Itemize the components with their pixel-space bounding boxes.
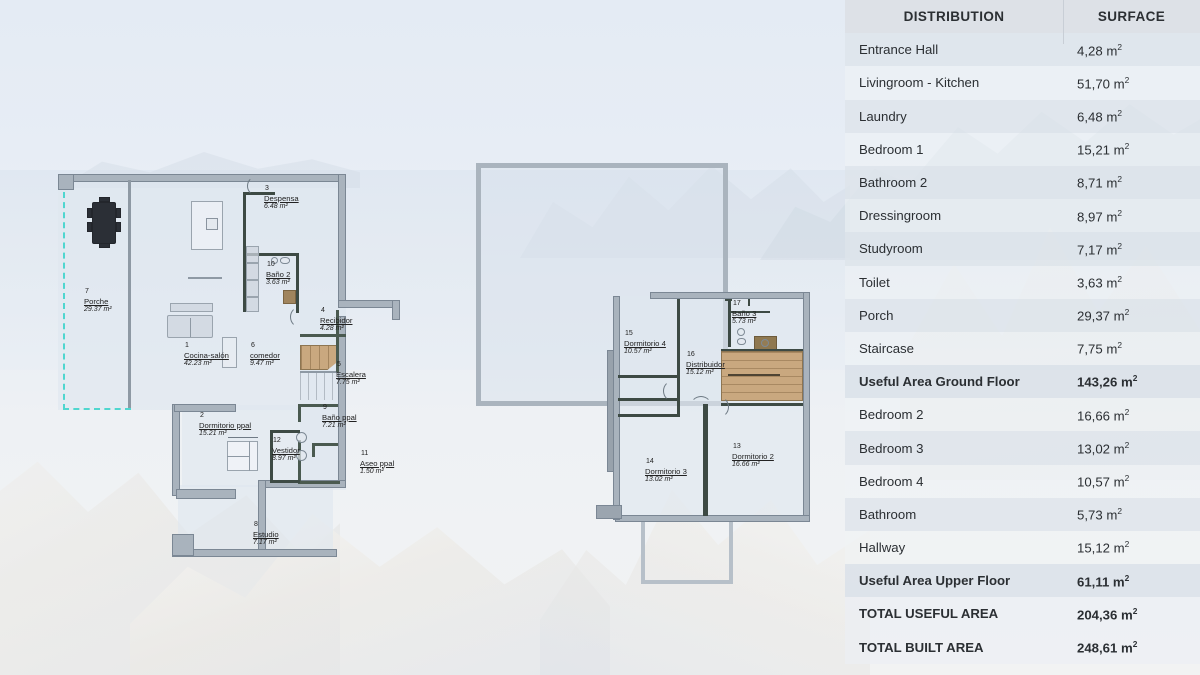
uf-label-distribuidor: 16 Distribuidor 15.12 m² xyxy=(686,351,725,377)
uf-wall-bath3-left xyxy=(728,299,731,347)
uf-label-bano3-num: 17 xyxy=(732,300,756,309)
uf-staircase-wall-bottom xyxy=(721,403,803,406)
uf-label-dorm4-area: 10.57 m² xyxy=(624,348,666,357)
gf-terrace-dashed-bottom xyxy=(63,408,131,410)
table-cell-distribution: Studyroom xyxy=(845,232,1063,265)
gf-pantry-shelf-4 xyxy=(246,297,259,312)
uf-label-dorm3-area: 13.02 m² xyxy=(645,476,687,485)
surface-table-head: DISTRIBUTION SURFACE xyxy=(845,0,1200,33)
gf-label-dormppal-name: Dormitorio ppal xyxy=(199,421,251,430)
gf-label-bano2-area: 3.63 m² xyxy=(266,279,290,288)
uf-label-bano3-name: Baño 3 xyxy=(732,309,756,318)
table-cell-distribution: Bedroom 3 xyxy=(845,431,1063,464)
uf-label-dorm4-num: 15 xyxy=(624,330,666,339)
surface-value: 15,12 m xyxy=(1077,541,1125,556)
table-cell-surface: 6,48 m2 xyxy=(1063,100,1200,133)
table-cell-surface: 61,11 m2 xyxy=(1063,564,1200,597)
gf-porch-chair-left-1 xyxy=(87,208,92,218)
table-cell-distribution: Useful Area Upper Floor xyxy=(845,564,1063,597)
gf-label-recibidor-num: 4 xyxy=(320,307,352,316)
surface-unit-exponent: 2 xyxy=(1125,539,1130,549)
table-cell-surface: 7,75 m2 xyxy=(1063,332,1200,365)
table-cell-surface: 204,36 m2 xyxy=(1063,597,1200,630)
gf-pantry-shelf-1 xyxy=(246,246,259,263)
uf-label-bano3-area: 5.73 m² xyxy=(732,318,756,327)
gf-label-cocina-area: 42.23 m² xyxy=(184,360,229,369)
table-cell-distribution: Entrance Hall xyxy=(845,33,1063,66)
gf-label-estudio-name: Estudio xyxy=(253,530,279,539)
table-row: Dressingroom8,97 m2 xyxy=(845,199,1200,232)
surface-unit-exponent: 2 xyxy=(1117,174,1122,184)
table-cell-surface: 8,97 m2 xyxy=(1063,199,1200,232)
gf-label-aseo-name: Aseo ppal xyxy=(360,459,394,468)
surface-value: 248,61 m xyxy=(1077,640,1133,655)
uf-wall-left-notch xyxy=(607,350,614,472)
surface-table-panel: DISTRIBUTION SURFACE Entrance Hall4,28 m… xyxy=(845,0,1200,675)
upper-floor-plan: 15 Dormitorio 4 10.57 m² 16 Distribuidor… xyxy=(460,0,845,675)
gf-vestidor-wall-top xyxy=(270,430,300,433)
surface-value: 29,37 m xyxy=(1077,308,1125,323)
surface-unit-exponent: 2 xyxy=(1117,340,1122,350)
table-row: Studyroom7,17 m2 xyxy=(845,232,1200,265)
surface-unit-exponent: 2 xyxy=(1125,473,1130,483)
header-surface: SURFACE xyxy=(1063,0,1200,33)
surface-unit-exponent: 2 xyxy=(1117,208,1122,218)
uf-label-dormitorio4: 15 Dormitorio 4 10.57 m² xyxy=(624,330,666,356)
surface-table: DISTRIBUTION SURFACE Entrance Hall4,28 m… xyxy=(845,0,1200,664)
gf-pantry-shelf-3 xyxy=(246,280,259,297)
gf-wall-right-far xyxy=(392,300,400,320)
table-row: Bathroom 28,71 m2 xyxy=(845,166,1200,199)
uf-bath3-vanity-sink xyxy=(761,339,769,347)
surface-value: 8,71 m xyxy=(1077,176,1117,191)
table-cell-surface: 15,12 m2 xyxy=(1063,531,1200,564)
gf-label-bano-ppal: 9 Baño ppal 7.21 m² xyxy=(322,404,357,430)
gf-label-aseo-ppal: 11 Aseo ppal 1.50 m² xyxy=(360,450,394,476)
gf-recibidor-wall-bottom xyxy=(300,334,346,337)
uf-label-dist-area: 15.12 m² xyxy=(686,369,725,378)
surface-value: 16,66 m xyxy=(1077,408,1125,423)
surface-value: 15,21 m xyxy=(1077,143,1125,158)
gf-porch-chair-bottom xyxy=(99,243,110,248)
gf-label-cocina-name: Cocina-salón xyxy=(184,351,229,360)
surface-unit-exponent: 2 xyxy=(1117,506,1122,516)
gf-label-comedor-name: comedor xyxy=(250,351,280,360)
surface-unit-exponent: 2 xyxy=(1125,573,1130,583)
gf-label-despensa-name: Despensa xyxy=(264,194,299,203)
table-cell-surface: 10,57 m2 xyxy=(1063,465,1200,498)
table-cell-surface: 16,66 m2 xyxy=(1063,398,1200,431)
gf-porch-chair-top xyxy=(99,197,110,202)
surface-unit-exponent: 2 xyxy=(1125,440,1130,450)
table-cell-distribution: Toilet xyxy=(845,266,1063,299)
gf-label-dormppal-num: 2 xyxy=(199,412,251,421)
gf-label-aseo-area: 1.50 m² xyxy=(360,468,394,477)
uf-label-dormitorio2: 13 Dormitorio 2 16.66 m² xyxy=(732,443,774,469)
table-row: Bedroom 313,02 m2 xyxy=(845,431,1200,464)
gf-bath2-wall-right xyxy=(296,253,299,313)
surface-value: 61,11 m xyxy=(1077,574,1125,589)
uf-door-arc-bedroom2 xyxy=(707,396,729,418)
gf-porch-dining-table xyxy=(92,202,116,244)
gf-porch-chair-right-2 xyxy=(116,222,121,232)
table-cell-distribution: Bedroom 4 xyxy=(845,465,1063,498)
table-row: Bathroom5,73 m2 xyxy=(845,498,1200,531)
table-cell-distribution: Livingroom - Kitchen xyxy=(845,66,1063,99)
uf-staircase-wall-top xyxy=(721,349,803,351)
gf-label-escalera-area: 7.75 m² xyxy=(336,379,366,388)
gf-label-escalera: 5 Escalera 7.75 m² xyxy=(336,361,366,387)
surface-value: 51,70 m xyxy=(1077,76,1125,91)
uf-staircase-rail xyxy=(728,374,780,376)
table-cell-surface: 5,73 m2 xyxy=(1063,498,1200,531)
table-row: Useful Area Ground Floor143,26 m2 xyxy=(845,365,1200,398)
gf-bath2-vanity xyxy=(283,290,296,304)
uf-wall-top xyxy=(650,292,810,299)
surface-value: 7,17 m xyxy=(1077,242,1117,257)
gf-wall-left-step2 xyxy=(176,489,236,499)
floorplan-infographic: 7 Porche 29.37 m² 3 Despensa 6.48 m² 10 … xyxy=(0,0,1200,675)
uf-staircase-wood xyxy=(721,351,803,401)
surface-unit-exponent: 2 xyxy=(1117,274,1122,284)
gf-label-vestidor-name: Vestidor xyxy=(272,446,300,455)
surface-unit-exponent: 2 xyxy=(1133,606,1138,616)
table-cell-distribution: Bathroom xyxy=(845,498,1063,531)
uf-wall-hall-shelf-2 xyxy=(618,414,680,417)
uf-wall-bottom-left-step xyxy=(596,505,622,519)
table-cell-surface: 13,02 m2 xyxy=(1063,431,1200,464)
uf-label-dist-num: 16 xyxy=(686,351,725,360)
gf-label-escalera-name: Escalera xyxy=(336,370,366,379)
gf-label-bano2-num: 10 xyxy=(266,261,290,270)
table-cell-surface: 15,21 m2 xyxy=(1063,133,1200,166)
uf-wall-bottom xyxy=(615,515,810,522)
gf-living-rug-line xyxy=(188,277,222,279)
gf-label-recibidor-name: Recibidor xyxy=(320,316,352,325)
table-row: Toilet3,63 m2 xyxy=(845,266,1200,299)
uf-label-dorm4-name: Dormitorio 4 xyxy=(624,339,666,348)
surface-value: 204,36 m xyxy=(1077,607,1133,622)
uf-wall-left xyxy=(613,296,620,520)
gf-porch-chair-left-2 xyxy=(87,222,92,232)
table-cell-distribution: Bathroom 2 xyxy=(845,166,1063,199)
gf-label-vestidor: 12 Vestidor 8.97 m² xyxy=(272,437,300,463)
table-cell-distribution: Useful Area Ground Floor xyxy=(845,365,1063,398)
gf-porch-divider-wall xyxy=(128,180,131,408)
gf-label-estudio: 8 Estudio 7.17 m² xyxy=(253,521,279,547)
surface-unit-exponent: 2 xyxy=(1133,373,1138,383)
surface-value: 7,75 m xyxy=(1077,342,1117,357)
gf-aseo-wall-left xyxy=(312,443,315,457)
gf-label-porche-name: Porche xyxy=(84,297,112,306)
gf-label-banoppal-name: Baño ppal xyxy=(322,413,357,422)
table-cell-distribution: Bedroom 2 xyxy=(845,398,1063,431)
gf-label-escalera-num: 5 xyxy=(336,361,366,370)
gf-bed-pillow-line xyxy=(249,441,250,471)
gf-label-cocina-salon: 1 Cocina-salón 42.23 m² xyxy=(184,342,229,368)
table-cell-surface: 7,17 m2 xyxy=(1063,232,1200,265)
gf-label-porche: 7 Porche 29.37 m² xyxy=(84,288,112,314)
gf-label-cocina-num: 1 xyxy=(184,342,229,351)
uf-label-bano3: 17 Baño 3 5.73 m² xyxy=(732,300,756,326)
uf-door-arc-bedroom4 xyxy=(663,380,685,402)
table-cell-distribution: Porch xyxy=(845,299,1063,332)
gf-staircase-ghost xyxy=(300,372,338,400)
table-row: Bedroom 410,57 m2 xyxy=(845,465,1200,498)
table-cell-surface: 143,26 m2 xyxy=(1063,365,1200,398)
gf-label-comedor-num: 6 xyxy=(250,342,280,351)
table-cell-distribution: Dressingroom xyxy=(845,199,1063,232)
table-row: Staircase7,75 m2 xyxy=(845,332,1200,365)
surface-unit-exponent: 2 xyxy=(1125,141,1130,151)
gf-wall-left-step xyxy=(174,404,236,412)
surface-unit-exponent: 2 xyxy=(1125,75,1130,85)
table-cell-distribution: TOTAL USEFUL AREA xyxy=(845,597,1063,630)
table-row: Hallway15,12 m2 xyxy=(845,531,1200,564)
gf-label-despensa-num: 3 xyxy=(264,185,299,194)
surface-unit-exponent: 2 xyxy=(1125,307,1130,317)
table-row: Porch29,37 m2 xyxy=(845,299,1200,332)
uf-label-dorm3-num: 14 xyxy=(645,458,687,467)
gf-aseo-wall-top xyxy=(312,443,338,446)
ground-floor-plan: 7 Porche 29.37 m² 3 Despensa 6.48 m² 10 … xyxy=(0,0,460,675)
table-row: Laundry6,48 m2 xyxy=(845,100,1200,133)
table-cell-distribution: Bedroom 1 xyxy=(845,133,1063,166)
gf-terrace-dashed-left xyxy=(63,192,65,410)
gf-entrance-door-arc xyxy=(290,306,312,328)
gf-label-dormitorio-ppal: 2 Dormitorio ppal 15.21 m² xyxy=(199,412,251,438)
table-cell-distribution: Hallway xyxy=(845,531,1063,564)
surface-unit-exponent: 2 xyxy=(1117,241,1122,251)
gf-label-estudio-area: 7.17 m² xyxy=(253,539,279,548)
gf-wall-right-lower xyxy=(338,316,346,488)
surface-table-body: Entrance Hall4,28 m2Livingroom - Kitchen… xyxy=(845,33,1200,664)
table-row: TOTAL BUILT AREA248,61 m2 xyxy=(845,631,1200,664)
surface-unit-exponent: 2 xyxy=(1125,407,1130,417)
table-row: Livingroom - Kitchen51,70 m2 xyxy=(845,66,1200,99)
surface-value: 4,28 m xyxy=(1077,43,1117,58)
gf-label-aseo-num: 11 xyxy=(360,450,394,459)
gf-wall-left-lower xyxy=(172,404,180,496)
gf-staircase-rail xyxy=(300,371,338,373)
gf-label-porche-num: 7 xyxy=(84,288,112,297)
table-cell-surface: 4,28 m2 xyxy=(1063,33,1200,66)
surface-value: 3,63 m xyxy=(1077,275,1117,290)
table-cell-distribution: Staircase xyxy=(845,332,1063,365)
table-cell-surface: 29,37 m2 xyxy=(1063,299,1200,332)
table-row: TOTAL USEFUL AREA204,36 m2 xyxy=(845,597,1200,630)
uf-wall-right xyxy=(803,292,810,522)
gf-wall-right-upper xyxy=(338,174,346,304)
gf-label-recibidor-area: 4.28 m² xyxy=(320,325,352,334)
gf-label-banoppal-area: 7.21 m² xyxy=(322,422,357,431)
gf-label-bano2: 10 Baño 2 3.63 m² xyxy=(266,261,290,287)
gf-vestidor-wall-bottom xyxy=(270,480,300,483)
uf-label-dist-name: Distribuidor xyxy=(686,360,725,369)
uf-label-dorm2-name: Dormitorio 2 xyxy=(732,452,774,461)
uf-lower-projection-outline xyxy=(641,518,733,584)
uf-bath3-toilet xyxy=(737,338,746,345)
gf-label-banoppal-num: 9 xyxy=(322,404,357,413)
surface-table-header-row: DISTRIBUTION SURFACE xyxy=(845,0,1200,33)
uf-label-dormitorio3: 14 Dormitorio 3 13.02 m² xyxy=(645,458,687,484)
gf-wall-top xyxy=(58,174,346,182)
gf-wall-bottom xyxy=(172,549,337,557)
gf-label-vestidor-num: 12 xyxy=(272,437,300,446)
gf-label-estudio-num: 8 xyxy=(253,521,279,530)
surface-value: 143,26 m xyxy=(1077,375,1133,390)
uf-label-dorm2-num: 13 xyxy=(732,443,774,452)
uf-label-dorm2-area: 16.66 m² xyxy=(732,461,774,470)
table-row: Useful Area Upper Floor61,11 m2 xyxy=(845,564,1200,597)
header-distribution: DISTRIBUTION xyxy=(845,0,1063,33)
surface-value: 8,97 m xyxy=(1077,209,1117,224)
gf-bathppal-wall-bottom xyxy=(298,481,340,484)
uf-bath3-basin xyxy=(737,328,745,336)
surface-unit-exponent: 2 xyxy=(1117,42,1122,52)
table-cell-distribution: Laundry xyxy=(845,100,1063,133)
uf-wall-bedroom4-right xyxy=(677,299,680,379)
table-cell-distribution: TOTAL BUILT AREA xyxy=(845,631,1063,664)
table-cell-surface: 8,71 m2 xyxy=(1063,166,1200,199)
gf-label-recibidor: 4 Recibidor 4.28 m² xyxy=(320,307,352,333)
table-cell-surface: 3,63 m2 xyxy=(1063,266,1200,299)
uf-wall-bath3-top-tick xyxy=(725,299,732,301)
uf-label-dorm3-name: Dormitorio 3 xyxy=(645,467,687,476)
surface-unit-exponent: 2 xyxy=(1133,639,1138,649)
gf-sofa-back xyxy=(170,303,213,312)
uf-wall-bedroom4-bottom xyxy=(618,375,680,378)
uf-center-column xyxy=(703,404,708,516)
table-cell-surface: 248,61 m2 xyxy=(1063,631,1200,664)
gf-label-despensa-area: 6.48 m² xyxy=(264,203,299,212)
gf-label-despensa: 3 Despensa 6.48 m² xyxy=(264,185,299,211)
gf-wall-top-left-return xyxy=(58,174,74,190)
gf-label-bano2-name: Baño 2 xyxy=(266,270,290,279)
table-row: Entrance Hall4,28 m2 xyxy=(845,33,1200,66)
table-row: Bedroom 115,21 m2 xyxy=(845,133,1200,166)
surface-value: 5,73 m xyxy=(1077,508,1117,523)
table-row: Bedroom 216,66 m2 xyxy=(845,398,1200,431)
gf-living-island-inset xyxy=(206,218,218,230)
gf-label-porche-area: 29.37 m² xyxy=(84,306,112,315)
surface-unit-exponent: 2 xyxy=(1117,108,1122,118)
gf-porch-chair-right-1 xyxy=(116,208,121,218)
gf-sofa-split xyxy=(190,318,191,337)
gf-pantry-shelf-2 xyxy=(246,263,259,280)
gf-bathppal-wall-left xyxy=(298,404,301,422)
gf-label-dormppal-area: 15.21 m² xyxy=(199,430,251,439)
gf-label-vestidor-area: 8.97 m² xyxy=(272,455,300,464)
surface-value: 10,57 m xyxy=(1077,474,1125,489)
surface-value: 6,48 m xyxy=(1077,109,1117,124)
surface-value: 13,02 m xyxy=(1077,441,1125,456)
gf-label-comedor-area: 9.47 m² xyxy=(250,360,280,369)
table-column-separator xyxy=(1063,0,1064,44)
gf-wall-bottom-left-return xyxy=(172,534,194,556)
gf-bed-side-line xyxy=(227,456,249,457)
gf-label-comedor: 6 comedor 9.47 m² xyxy=(250,342,280,368)
table-cell-surface: 51,70 m2 xyxy=(1063,66,1200,99)
